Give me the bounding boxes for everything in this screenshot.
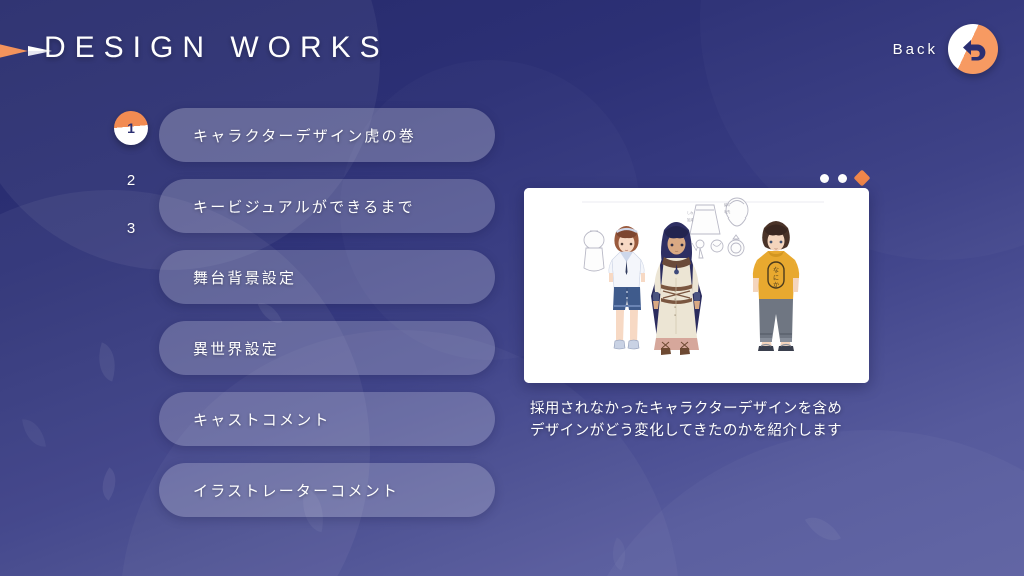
bg-blob	[560, 430, 1024, 576]
window-dots	[820, 172, 868, 184]
menu-item-label: キービジュアルができるまで	[193, 196, 415, 217]
window-diamond-icon	[854, 170, 871, 187]
svg-text:※: ※	[674, 305, 676, 309]
back-arrow-icon[interactable]	[948, 24, 998, 74]
window-dot-icon	[820, 174, 829, 183]
svg-text:※: ※	[674, 313, 676, 317]
design-works-screen: DESIGN WORKS Back 1 2 3 キャラクターデザイン虎の巻 キー…	[0, 0, 1024, 576]
svg-text:に: に	[773, 275, 779, 282]
back-button-label: Back	[893, 41, 938, 58]
page-title: DESIGN WORKS	[44, 31, 389, 65]
preview-caption: 採用されなかったキャラクターデザインを含め デザインがどう変化してきたのかを紹介…	[530, 398, 890, 443]
svg-text:しわ: しわ	[687, 210, 693, 215]
svg-text:か: か	[773, 282, 779, 289]
menu-item-illustrator-comment[interactable]: イラストレーターコメント	[159, 463, 495, 517]
svg-text:※: ※	[674, 289, 676, 293]
bg-petal	[605, 538, 633, 571]
svg-text:毛先: 毛先	[724, 209, 731, 214]
svg-text:髪の: 髪の	[724, 202, 730, 207]
index-number-2[interactable]: 2	[114, 172, 148, 189]
menu-item-label: キャストコメント	[193, 409, 331, 430]
svg-text:な: な	[773, 267, 779, 274]
svg-text:加減: 加減	[687, 217, 694, 222]
caption-line-1: 採用されなかったキャラクターデザインを含め	[530, 398, 890, 420]
bg-petal	[22, 417, 46, 449]
menu-item-other-world[interactable]: 異世界設定	[159, 321, 495, 375]
background-decoration	[0, 0, 1024, 576]
bg-petal	[94, 467, 125, 500]
window-dot-icon	[838, 174, 847, 183]
bg-petal	[91, 342, 122, 381]
back-button[interactable]: Back	[893, 24, 998, 74]
svg-text:※: ※	[674, 297, 676, 301]
menu-item-stage-background[interactable]: 舞台背景設定	[159, 250, 495, 304]
bg-petal	[805, 509, 841, 549]
menu-list: キャラクターデザイン虎の巻 キービジュアルができるまで 舞台背景設定 異世界設定…	[159, 108, 495, 534]
menu-item-label: キャラクターデザイン虎の巻	[193, 125, 416, 146]
menu-item-key-visual[interactable]: キービジュアルができるまで	[159, 179, 495, 233]
menu-item-label: イラストレーターコメント	[193, 480, 399, 501]
index-badge-1[interactable]: 1	[114, 111, 148, 145]
menu-item-label: 異世界設定	[193, 338, 279, 359]
caption-line-2: デザインがどう変化してきたのかを紹介します	[530, 420, 890, 442]
index-number-3[interactable]: 3	[114, 220, 148, 237]
menu-item-character-design[interactable]: キャラクターデザイン虎の巻	[159, 108, 495, 162]
preview-image[interactable]: しわ 加減 髪の 毛先	[524, 188, 869, 383]
menu-item-cast-comment[interactable]: キャストコメント	[159, 392, 495, 446]
menu-item-label: 舞台背景設定	[193, 267, 296, 288]
